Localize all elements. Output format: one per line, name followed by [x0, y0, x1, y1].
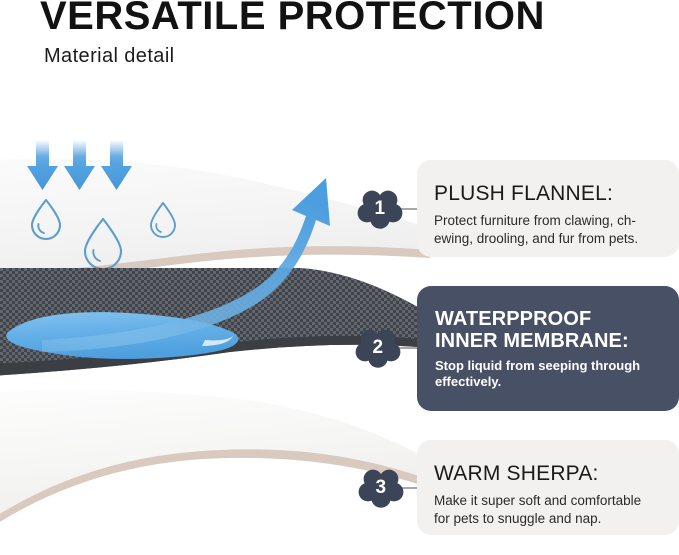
card-warm-sherpa[interactable]: WARM SHERPA: Make it super soft and comf… — [417, 440, 679, 535]
card-title: PLUSH FLANNEL: — [434, 182, 663, 205]
infographic-page: VERSATILE PROTECTION Material detail — [0, 0, 679, 555]
card-body: Make it super soft and comfortable for p… — [434, 492, 663, 528]
page-subtitle: Material detail — [44, 45, 175, 68]
flower-badge-icon — [359, 470, 404, 508]
flower-badge-icon — [358, 191, 403, 229]
card-title: WARM SHERPA: — [434, 462, 663, 485]
card-plush-flannel[interactable]: PLUSH FLANNEL: Protect furniture from cl… — [417, 160, 679, 257]
page-title: VERSATILE PROTECTION — [40, 0, 545, 39]
card-body: Protect furniture from clawing, ch- ewin… — [434, 212, 663, 248]
flower-badge-icon — [356, 330, 401, 368]
card-waterproof-membrane[interactable]: WATERPPROOF INNER MEMBRANE: Stop liquid … — [417, 286, 679, 411]
water-down-arrows — [27, 140, 132, 190]
badge-2[interactable]: 2 — [355, 325, 401, 371]
card-title: WATERPPROOF INNER MEMBRANE: — [435, 308, 663, 353]
card-body: Stop liquid from seeping through effecti… — [435, 358, 663, 391]
badge-3[interactable]: 3 — [358, 465, 404, 511]
badge-1[interactable]: 1 — [357, 186, 403, 232]
